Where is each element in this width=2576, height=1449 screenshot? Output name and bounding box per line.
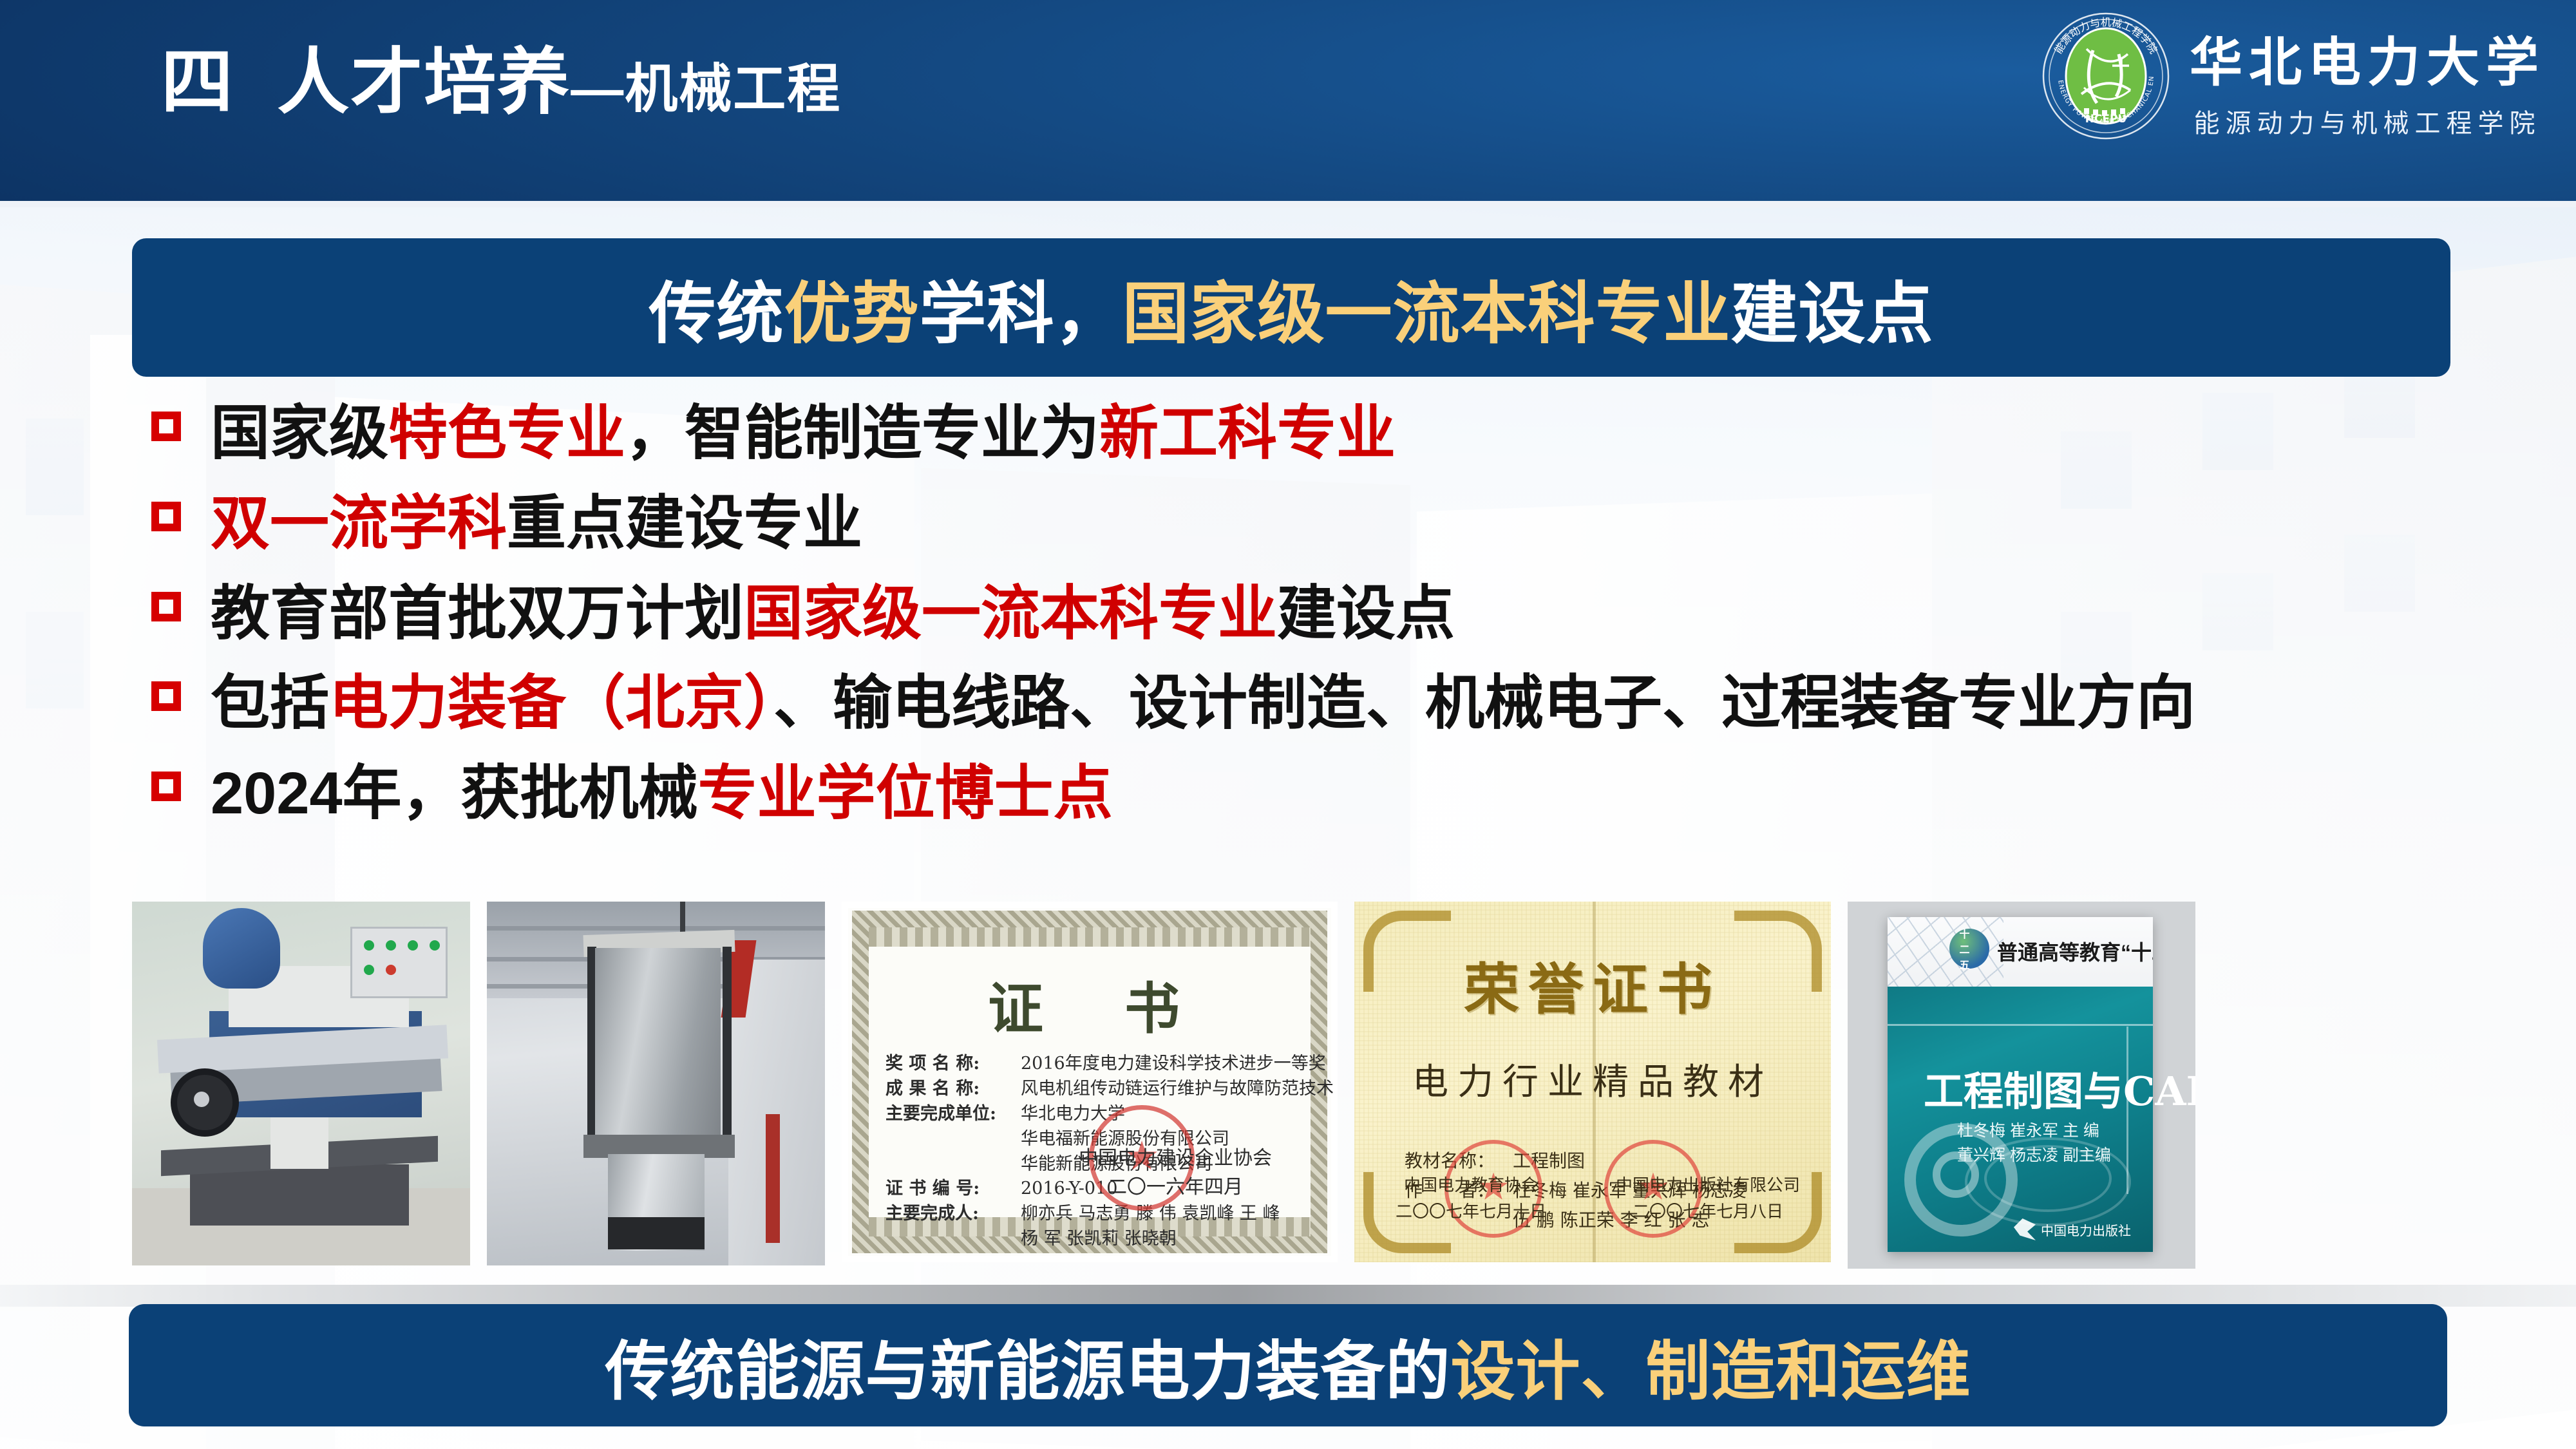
bottom-part-0: 传统能源与新能源电力装备的	[605, 1336, 1451, 1408]
row-label: 主要完成单位:	[885, 1102, 1021, 1127]
bullet-2-part-2: 建设点	[1277, 581, 1455, 647]
hollow-square-bullet-icon	[151, 502, 181, 531]
issue-date: 二〇〇七年七月八日	[1616, 1199, 1800, 1226]
book-authors: 杜冬梅 崔永军 主 编 董兴辉 杨志凌 副主编	[1957, 1119, 2111, 1168]
bullet-1-part-0: 双一流学科	[211, 491, 507, 556]
certificate-row: 杨 军 张凯莉 张晓朝	[885, 1227, 1294, 1252]
hollow-square-bullet-icon	[151, 681, 181, 711]
list-item: 包括电力装备（北京）、输电线路、设计制造、机械电子、过程装备专业方向	[151, 666, 2470, 742]
book-cover: 十二五 普通高等教育“十二五”规划教材 工程制图与CAD 杜冬梅 崔永军 主 编…	[1888, 917, 2153, 1252]
row-value: 风电机组传动链运行维护与故障防范技术	[1021, 1079, 1334, 1099]
row-value: 杨 军 张凯莉 张晓朝	[1021, 1229, 1177, 1249]
bullet-list: 国家级特色专业，智能制造专业为新工科专业 双一流学科重点建设专业 教育部首批双万…	[151, 396, 2470, 846]
ncepu-emblem-icon: NCEPU 能源动力与机械工程学院 SCHOOL OF ENERGY POWER…	[2041, 12, 2170, 140]
section-number: 四	[161, 42, 234, 122]
authors-line-1: 杜冬梅 崔永军 主 编	[1957, 1119, 2111, 1144]
bullet-0-part-1: 特色专业	[388, 401, 625, 466]
bullet-0-part-3: 新工科专业	[1099, 401, 1396, 466]
certificate-row: 主要完成人:柳亦兵 马志勇 滕 伟 袁凯峰 王 峰	[885, 1202, 1294, 1227]
book-title: 工程制图与CAD	[1924, 1059, 2195, 1117]
school-name: 能源动力与机械工程学院	[2193, 102, 2541, 140]
image-gallery: 证 书 奖 项 名 称:2016年度电力建设科学技术进步一等奖 成 果 名 称:…	[132, 902, 2212, 1282]
list-item-text: 双一流学科重点建设专业	[211, 486, 862, 562]
bottom-part-1: 设计、制造和运维	[1451, 1336, 1971, 1408]
hollow-square-bullet-icon	[151, 772, 181, 801]
book-cover-body: 工程制图与CAD 杜冬梅 崔永军 主 编 董兴辉 杨志凌 副主编 中国电力出版社	[1888, 987, 2153, 1252]
honor-certificate-title: 荣誉证书	[1354, 944, 1831, 1025]
issuer-name: 中国电力出版社有限公司	[1616, 1173, 1800, 1200]
badge-text: 十二五	[1960, 925, 1980, 972]
certificate-frame: 证 书 奖 项 名 称:2016年度电力建设科学技术进步一等奖 成 果 名 称:…	[852, 911, 1327, 1253]
list-item: 教育部首批双万计划国家级一流本科专业建设点	[151, 576, 2470, 652]
hollow-square-bullet-icon	[151, 412, 181, 441]
row-value: 2016年度电力建设科学技术进步一等奖	[1021, 1054, 1326, 1074]
logo-lockup: NCEPU 能源动力与机械工程学院 SCHOOL OF ENERGY POWER…	[2041, 12, 2545, 140]
issuer-block: 中国电力出版社有限公司 二〇〇七年七月八日	[1616, 1173, 1800, 1226]
award-certificate-photo: 证 书 奖 项 名 称:2016年度电力建设科学技术进步一等奖 成 果 名 称:…	[842, 902, 1338, 1262]
issuer-name: 中国电力建设企业协会	[1079, 1144, 1272, 1173]
slide-root: 四 人才培养—机械工程	[0, 0, 2576, 1449]
list-item: 2024年，获批机械专业学位博士点	[151, 756, 2470, 832]
title-part-1: 优势	[784, 277, 919, 352]
list-item: 双一流学科重点建设专业	[151, 486, 2470, 562]
textbook-cover-photo: 十二五 普通高等教育“十二五”规划教材 工程制图与CAD 杜冬梅 崔永军 主 编…	[1848, 902, 2195, 1269]
list-item-text: 国家级特色专业，智能制造专业为新工科专业	[211, 396, 1396, 472]
hollow-square-bullet-icon	[151, 592, 181, 621]
certificate-row: 成 果 名 称:风电机组传动链运行维护与故障防范技术	[885, 1077, 1294, 1102]
row-label: 成 果 名 称:	[885, 1077, 1021, 1102]
list-item-text: 2024年，获批机械专业学位博士点	[211, 756, 1113, 832]
bullet-3-part-1: 电力装备（北京）	[329, 670, 773, 736]
issuer-block: 中国电力教育协会 二〇〇七年七月十日	[1396, 1173, 1546, 1226]
publisher-name: 中国电力出版社	[2041, 1220, 2131, 1239]
list-item: 国家级特色专业，智能制造专业为新工科专业	[151, 396, 2470, 472]
row-label: 证 书 编 号:	[885, 1177, 1021, 1202]
plan-badge-icon: 十二五	[1949, 929, 1989, 969]
background-gray-band	[0, 1285, 2576, 1307]
title-banner: 传统优势学科，国家级一流本科专业建设点	[132, 238, 2450, 377]
book-cover-header: 十二五 普通高等教育“十二五”规划教材	[1888, 917, 2153, 987]
bullet-2-part-1: 国家级一流本科专业	[744, 581, 1277, 647]
certificate-title: 证 书	[905, 963, 1294, 1044]
title-part-0: 传统	[649, 277, 784, 352]
page-title: 四 人才培养—机械工程	[161, 37, 841, 128]
title-part-4: 建设点	[1731, 277, 1934, 352]
list-item-text: 教育部首批双万计划国家级一流本科专业建设点	[211, 576, 1455, 652]
university-name: 华北电力大学	[2190, 19, 2545, 96]
issue-date: 二〇〇七年七月十日	[1396, 1199, 1546, 1226]
bullet-2-part-0: 教育部首批双万计划	[211, 581, 744, 647]
bullet-1-part-1: 重点建设专业	[507, 491, 862, 556]
bullet-4-part-1: 专业学位博士点	[698, 761, 1113, 826]
bullet-3-part-2: 、输电线路、设计制造、机械电子、过程装备专业方向	[773, 670, 2195, 736]
publisher-logo-icon	[2014, 1218, 2036, 1240]
issue-date: 二〇一六年四月	[1079, 1173, 1272, 1202]
milling-machine-photo	[132, 902, 470, 1265]
honor-certificate-photo: 荣誉证书 电力行业精品教材 教材名称：工程制图 作 者：杜冬梅 崔永军 董兴辉 …	[1354, 902, 1831, 1262]
header-bar: 四 人才培养—机械工程	[0, 0, 2576, 201]
certificate-issuer: 中国电力建设企业协会 二〇一六年四月	[1079, 1144, 1272, 1202]
authors-line-2: 董兴辉 杨志凌 副主编	[1957, 1144, 2111, 1168]
vertical-test-rig-photo	[487, 902, 825, 1265]
certificate-row: 主要完成单位:华北电力大学	[885, 1102, 1294, 1127]
bottom-banner: 传统能源与新能源电力装备的设计、制造和运维	[129, 1304, 2447, 1426]
row-label: 主要完成人:	[885, 1202, 1021, 1227]
title-sub: —机械工程	[571, 60, 841, 118]
issuer-name: 中国电力教育协会	[1396, 1173, 1546, 1200]
title-part-3: 国家级一流本科专业	[1122, 277, 1731, 352]
logo-wordmark: 华北电力大学 能源动力与机械工程学院	[2190, 13, 2545, 140]
certificate-row: 奖 项 名 称:2016年度电力建设科学技术进步一等奖	[885, 1052, 1294, 1077]
row-label: 奖 项 名 称:	[885, 1052, 1021, 1077]
bullet-0-part-0: 国家级	[211, 401, 388, 466]
bullet-4-part-0: 2024年，获批机械	[211, 761, 698, 826]
title-banner-text: 传统优势学科，国家级一流本科专业建设点	[649, 259, 1933, 356]
bullet-0-part-2: ，智能制造专业为	[625, 401, 1099, 466]
title-part-2: 学科，	[919, 277, 1122, 352]
title-main: 人才培养	[277, 42, 571, 122]
bullet-3-part-0: 包括	[211, 670, 329, 736]
header-divider	[0, 201, 2576, 207]
bottom-banner-text: 传统能源与新能源电力装备的设计、制造和运维	[605, 1319, 1971, 1412]
honor-certificate-subtitle: 电力行业精品教材	[1354, 1053, 1831, 1105]
list-item-text: 包括电力装备（北京）、输电线路、设计制造、机械电子、过程装备专业方向	[211, 666, 2195, 742]
honor-certificate-issuers: 中国电力教育协会 二〇〇七年七月十日 中国电力出版社有限公司 二〇〇七年七月八日	[1396, 1173, 1800, 1226]
book-series: 普通高等教育“十二五”规划教材	[1997, 936, 2153, 966]
publisher-lockup: 中国电力出版社	[2014, 1218, 2131, 1240]
